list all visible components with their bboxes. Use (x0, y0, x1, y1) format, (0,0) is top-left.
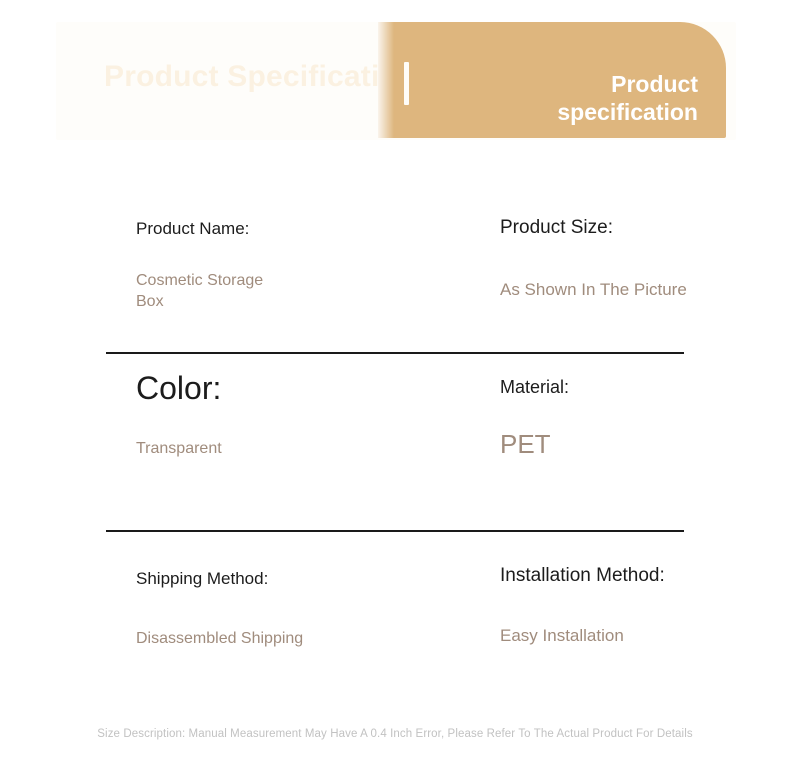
spec-value: Cosmetic Storage Box (136, 270, 466, 312)
spec-label: Product Size: (500, 216, 770, 241)
spec-value: PET (500, 427, 770, 461)
spec-label: Installation Method: (500, 564, 770, 589)
spec-value: Transparent (136, 438, 466, 459)
spec-cell-installation-method: Installation Method: Easy Installation (500, 512, 770, 647)
spec-label: Product Name: (136, 218, 466, 240)
banner-accent-bar (404, 62, 409, 105)
page-header: Product Specifications Product specifica… (0, 0, 790, 160)
spec-label: Material: (500, 376, 770, 399)
specification-list: Product Name: Cosmetic Storage Box Produ… (0, 160, 790, 682)
product-specification-page: Product Specifications Product specifica… (0, 0, 790, 780)
spec-value: As Shown In The Picture (500, 279, 770, 301)
spec-row: Product Name: Cosmetic Storage Box Produ… (0, 160, 790, 336)
title-banner: Product specification (378, 22, 726, 138)
spec-label: Color: (136, 368, 466, 410)
spec-row: Shipping Method: Disassembled Shipping I… (0, 512, 790, 682)
spec-label: Shipping Method: (136, 568, 466, 590)
size-disclaimer-note: Size Description: Manual Measurement May… (0, 728, 790, 740)
spec-value: Easy Installation (500, 625, 770, 647)
spec-cell-color: Color: Transparent (136, 336, 466, 459)
spec-cell-material: Material: PET (500, 336, 770, 462)
spec-row: Color: Transparent Material: PET (0, 336, 790, 512)
spec-cell-shipping-method: Shipping Method: Disassembled Shipping (136, 512, 466, 649)
banner-title-line-1: Product (438, 70, 698, 98)
spec-value: Disassembled Shipping (136, 628, 466, 649)
banner-title-line-2: specification (438, 98, 698, 126)
spec-cell-product-name: Product Name: Cosmetic Storage Box (136, 160, 466, 312)
banner-title: Product specification (438, 70, 698, 126)
spec-cell-product-size: Product Size: As Shown In The Picture (500, 160, 770, 301)
